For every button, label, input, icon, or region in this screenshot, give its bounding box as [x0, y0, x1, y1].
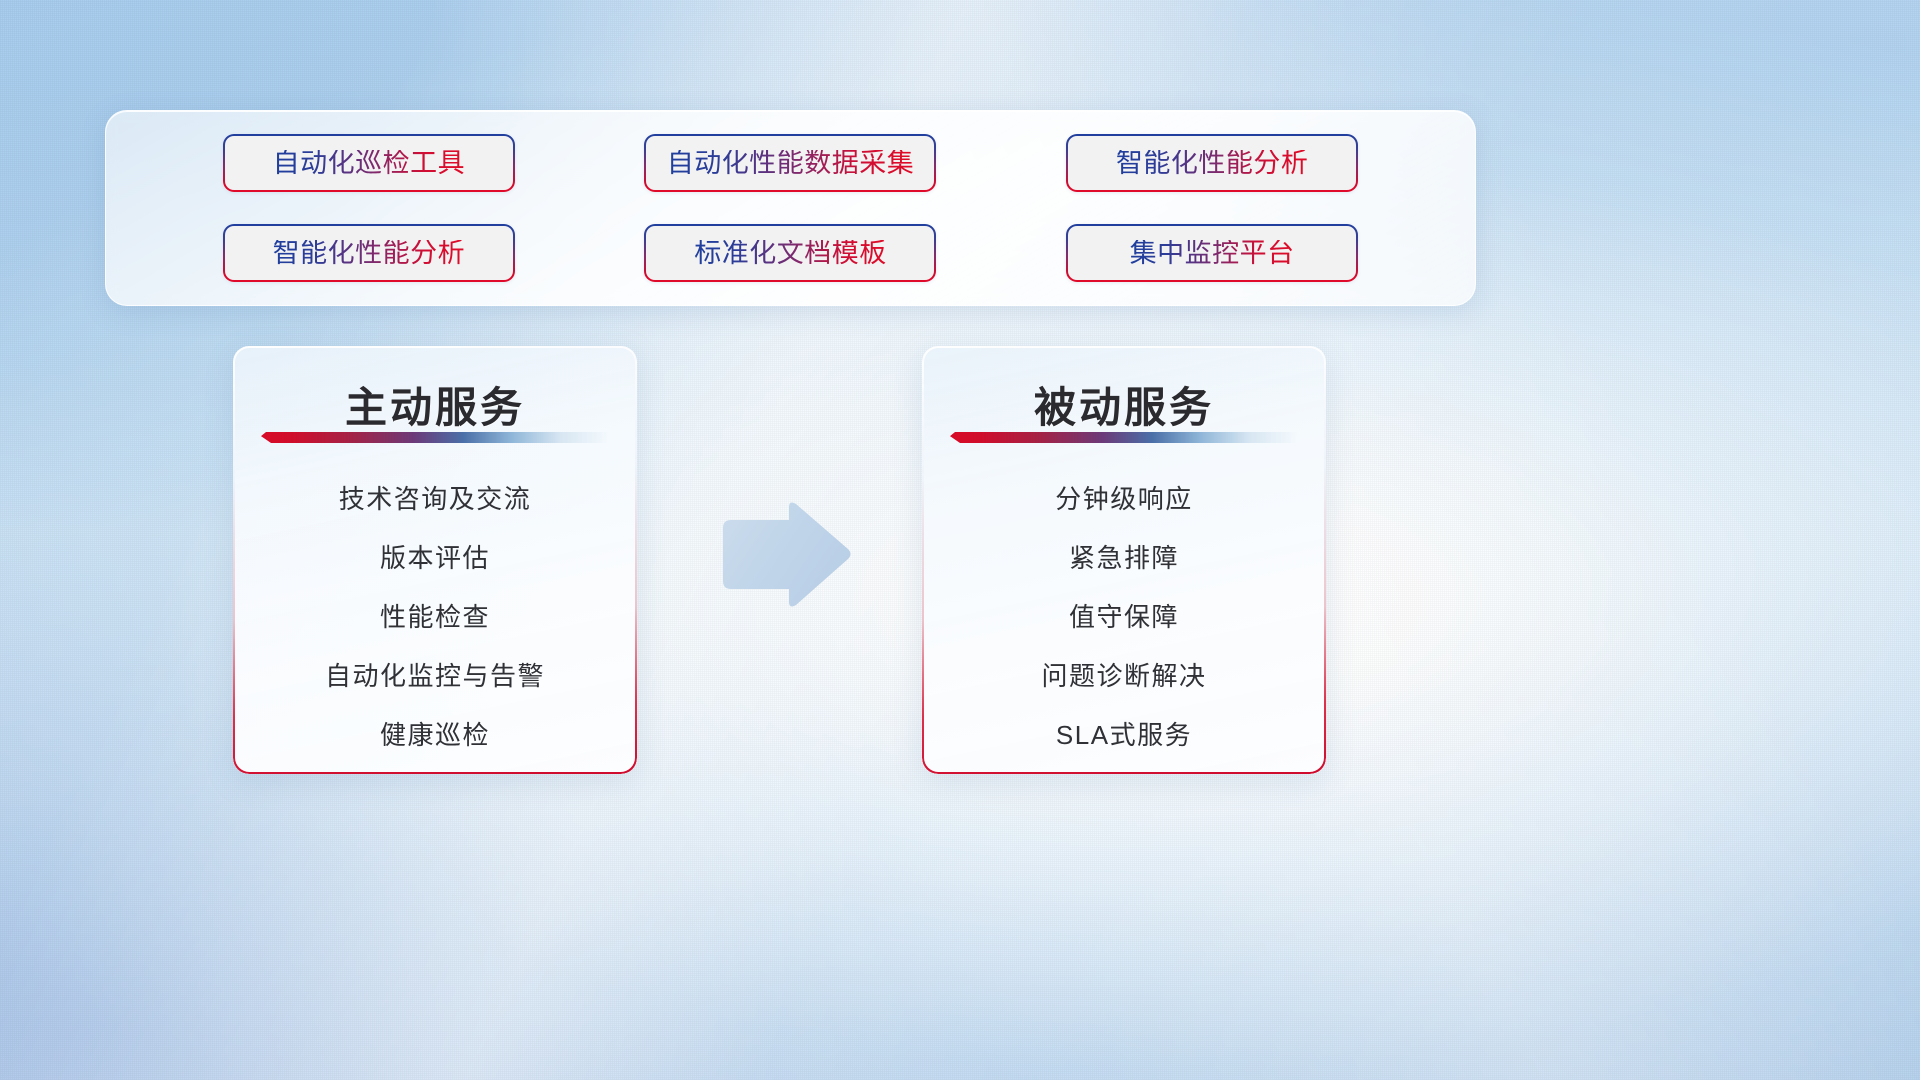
capability-pill[interactable]: 自动化性能数据采集	[644, 134, 936, 192]
capability-pill[interactable]: 集中监控平台	[1066, 224, 1358, 282]
capability-pill-label: 智能化性能分析	[273, 240, 466, 267]
card-list-item[interactable]: SLA式服务	[922, 706, 1326, 765]
capability-pill-label: 集中监控平台	[1130, 240, 1295, 267]
card-list-item[interactable]: 健康巡检	[233, 706, 637, 765]
card-list-item[interactable]: 紧急排障	[922, 529, 1326, 588]
card-list-item[interactable]: 技术咨询及交流	[233, 470, 637, 529]
capabilities-panel: 自动化巡检工具 自动化性能数据采集 智能化性能分析 智能化性能分析 标准化文档模…	[105, 110, 1476, 306]
card-title: 被动服务	[922, 374, 1326, 435]
capability-pill[interactable]: 标准化文档模板	[644, 224, 936, 282]
card-list-item[interactable]: 值守保障	[922, 588, 1326, 647]
card-list-item[interactable]: 自动化监控与告警	[233, 647, 637, 706]
card-list-item[interactable]: 问题诊断解决	[922, 647, 1326, 706]
capability-pill[interactable]: 智能化性能分析	[223, 224, 515, 282]
arrow-right-icon	[715, 500, 853, 610]
card-divider	[950, 432, 1298, 443]
capability-pill[interactable]: 智能化性能分析	[1066, 134, 1358, 192]
card-list-item[interactable]: 版本评估	[233, 529, 637, 588]
service-card-active: 主动服务 技术咨询及交流 版本评估 性能检查 自动化监控与告警 健康巡检	[233, 346, 637, 774]
arrow-right-icon-svg	[715, 500, 853, 610]
capability-pill[interactable]: 自动化巡检工具	[223, 134, 515, 192]
capability-pill-grid: 自动化巡检工具 自动化性能数据采集 智能化性能分析 智能化性能分析 标准化文档模…	[106, 111, 1475, 305]
capability-pill-label: 自动化巡检工具	[273, 150, 466, 177]
capability-pill-label: 自动化性能数据采集	[667, 150, 915, 177]
card-divider	[261, 432, 609, 443]
card-list-item[interactable]: 性能检查	[233, 588, 637, 647]
card-list-item[interactable]: 分钟级响应	[922, 470, 1326, 529]
card-item-list: 技术咨询及交流 版本评估 性能检查 自动化监控与告警 健康巡检	[233, 470, 637, 765]
card-title: 主动服务	[233, 374, 637, 435]
service-card-passive: 被动服务 分钟级响应 紧急排障 值守保障 问题诊断解决 SLA式服务	[922, 346, 1326, 774]
card-item-list: 分钟级响应 紧急排障 值守保障 问题诊断解决 SLA式服务	[922, 470, 1326, 765]
capability-pill-label: 标准化文档模板	[694, 240, 887, 267]
capability-pill-label: 智能化性能分析	[1116, 150, 1309, 177]
